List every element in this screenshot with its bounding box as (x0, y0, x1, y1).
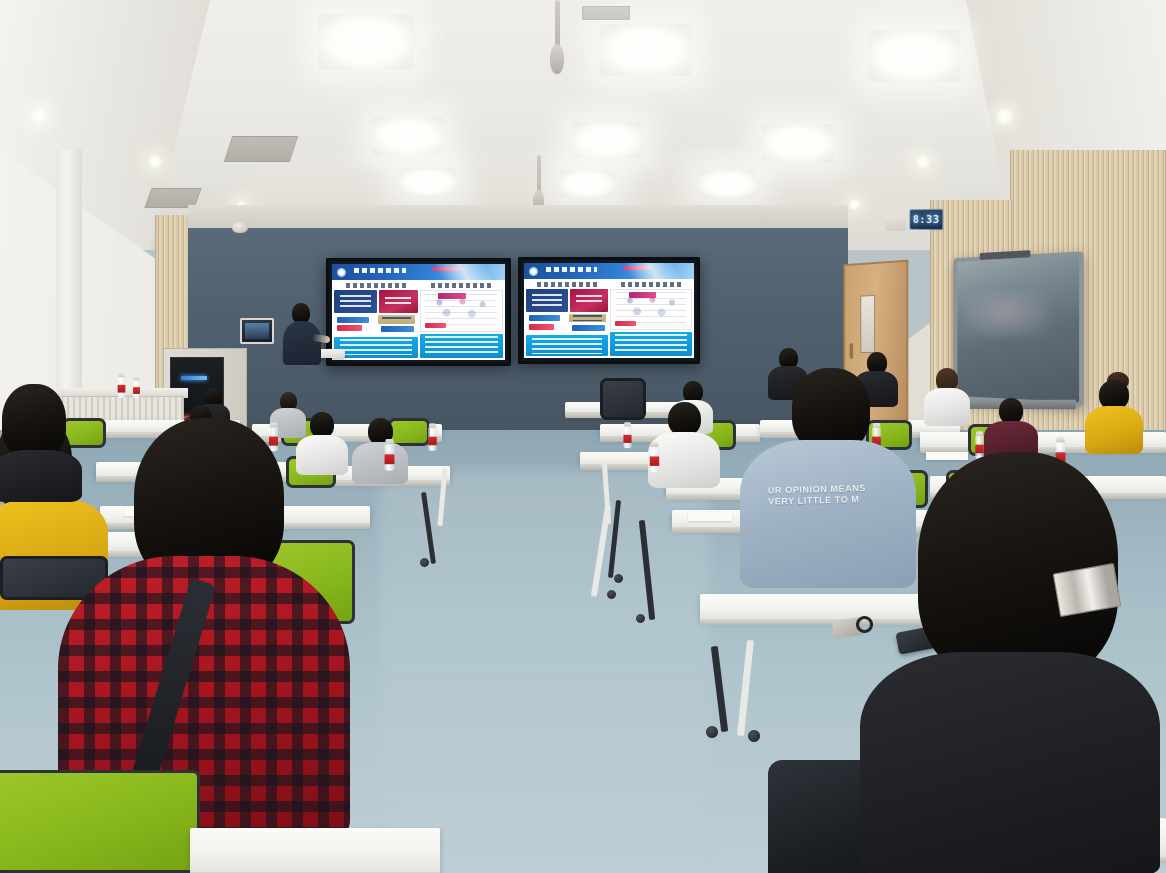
slide-header-accent (623, 266, 650, 270)
ceiling-panel-light (400, 168, 456, 196)
flowchart-diagram (610, 289, 692, 330)
desk-foreground-left (190, 828, 440, 873)
slide-column-left (526, 281, 608, 356)
slide-content-left (332, 264, 505, 360)
torso (352, 442, 408, 484)
torso (1085, 406, 1143, 454)
cyan-text-block-left (526, 335, 608, 356)
digital-clock-display: 8:33 (909, 209, 943, 230)
tan-image-strip (569, 314, 605, 322)
ceiling-panel-light (600, 24, 692, 76)
water-bottle[interactable] (650, 446, 659, 472)
cyan-text-block-right (420, 334, 504, 359)
ceiling-panel-light (560, 170, 614, 197)
water-bottle[interactable] (118, 377, 126, 398)
ceiling-downlight (916, 155, 930, 169)
crimson-photo-box (379, 290, 418, 313)
cyan-text-block-right (610, 332, 692, 356)
crimson-photo-box (570, 289, 608, 311)
chair-caster (607, 590, 616, 599)
red-callout-chip (529, 324, 554, 330)
student-yellow-top-right (1085, 378, 1143, 454)
red-label-chip (425, 323, 446, 328)
ceiling-downlight (31, 107, 48, 124)
torso (924, 388, 970, 426)
slide-header-banner (332, 264, 505, 280)
ceiling-panel-light (700, 170, 756, 198)
water-bottle[interactable] (385, 444, 395, 471)
head (918, 452, 1118, 680)
slide-body (332, 280, 505, 360)
slide-column-heading (621, 282, 680, 287)
slide-link-chip (572, 325, 605, 331)
ceiling-air-vent (224, 136, 298, 162)
av-blue-led-indicator (181, 376, 207, 380)
blue-callout-chip (337, 317, 369, 323)
head (2, 384, 66, 460)
navy-intro-box (526, 289, 568, 311)
university-crest-logo (337, 268, 346, 277)
dome-security-camera (232, 222, 248, 233)
slide-column-heading (537, 282, 596, 287)
notebook-paper (688, 512, 732, 521)
university-crest-logo (529, 267, 538, 276)
wall-control-panel-display[interactable] (240, 318, 274, 344)
university-name-text (546, 267, 597, 272)
display-screen-right[interactable] (518, 257, 700, 364)
ceiling-downlight (996, 108, 1013, 125)
ceiling-panel-light (318, 14, 414, 70)
slide-header-banner (524, 263, 694, 279)
cyan-text-block-left (334, 337, 418, 358)
slide-column-heading (431, 283, 491, 288)
presenter-body (283, 321, 321, 365)
ceiling-downlight (148, 155, 162, 169)
ceiling-hanger-pod (550, 44, 564, 74)
university-name-text (354, 268, 406, 273)
water-bottle[interactable] (428, 427, 437, 450)
ceiling-panel-light (372, 117, 444, 155)
ceiling-air-vent (582, 6, 630, 20)
torso (860, 652, 1160, 873)
jacket-text-line2: VERY LITTLE TO M (768, 495, 860, 507)
whiteboard-camera-bar (980, 250, 1030, 260)
slide-body (524, 279, 694, 358)
head (668, 402, 701, 436)
navy-intro-box (334, 290, 377, 313)
student-white-shirt (648, 402, 720, 486)
presenter (278, 303, 324, 365)
slide-column-right (610, 281, 692, 356)
tan-image-strip (378, 315, 415, 323)
interactive-whiteboard[interactable] (954, 251, 1083, 406)
chair-caster (420, 558, 429, 567)
ceiling-panel-light (868, 30, 960, 82)
classroom-scene: 8:33 (0, 0, 1166, 873)
water-bottle[interactable] (623, 426, 631, 448)
door-handle[interactable] (849, 343, 853, 359)
blue-callout-chip (529, 315, 560, 321)
slide-link-chip (381, 326, 414, 332)
chair-dark[interactable] (600, 378, 646, 420)
student-back-right-3 (924, 368, 970, 426)
control-panel-screen (245, 323, 269, 339)
red-label-chip (615, 321, 636, 326)
student-mid-right (984, 398, 1038, 460)
flowchart-diagram (420, 290, 504, 331)
clock-reading: 8:33 (913, 213, 940, 226)
display-screen-left[interactable] (326, 258, 511, 366)
chair-caster (748, 730, 760, 742)
student-hair-clip (860, 452, 1160, 873)
ceiling-panel-light (572, 122, 642, 158)
chair[interactable] (0, 770, 200, 873)
water-bottle[interactable] (133, 380, 140, 399)
ceiling-panel-light (762, 124, 834, 162)
whiteboard-glare (964, 289, 1048, 338)
door-window-panel (860, 295, 875, 353)
slide-column-right (420, 282, 504, 358)
slide-header-accent (432, 267, 460, 271)
chair-caster (706, 726, 718, 738)
red-callout-chip (337, 325, 362, 331)
slide-column-heading (346, 283, 406, 288)
student-mid-left-gray (352, 418, 408, 482)
chair-caster (636, 614, 645, 623)
slide-column-left (334, 282, 418, 358)
slide-content-right (524, 263, 694, 358)
wall-sign (885, 216, 906, 231)
chair-caster (614, 574, 623, 583)
ceiling-downlight (849, 199, 860, 210)
